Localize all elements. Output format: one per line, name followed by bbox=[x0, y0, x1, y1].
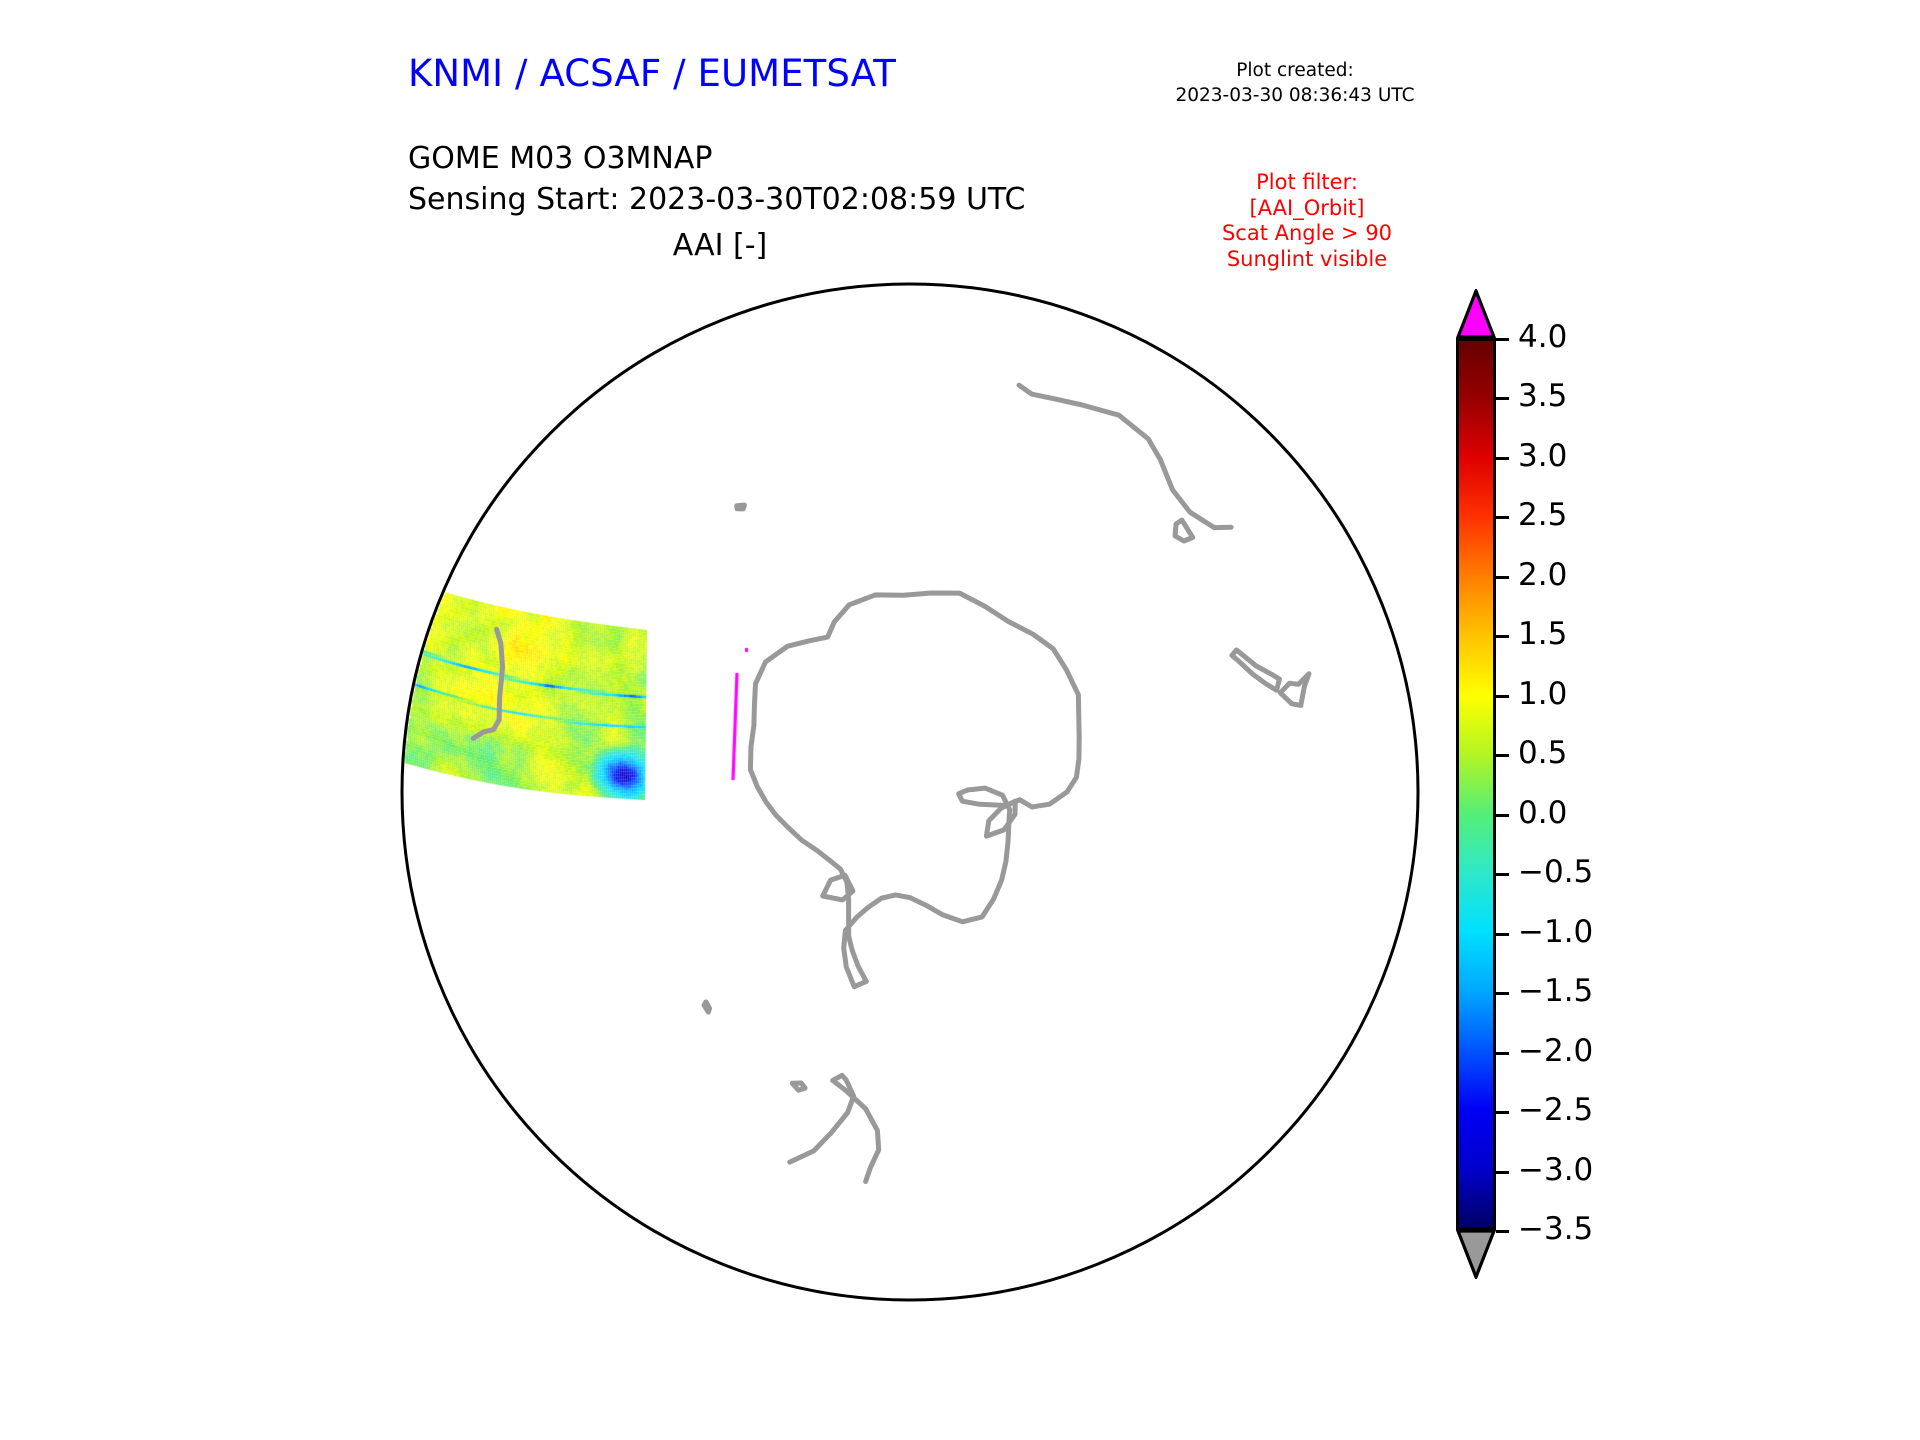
colorbar-tick bbox=[1496, 1111, 1509, 1114]
colorbar-tick-label: 2.0 bbox=[1518, 560, 1567, 591]
colorbar: 4.03.53.02.52.01.51.00.50.0−0.5−1.0−1.5−… bbox=[1448, 286, 1748, 1306]
colorbar-tick-label: 4.0 bbox=[1518, 322, 1567, 353]
colorbar-tick bbox=[1496, 814, 1509, 817]
coastline-path bbox=[473, 629, 502, 738]
plot-filter-note: Sunglint visible bbox=[1162, 247, 1452, 273]
coastline-path bbox=[792, 1083, 805, 1090]
colorbar-under-arrow-icon bbox=[1456, 1229, 1496, 1279]
coastline-path bbox=[750, 593, 1079, 987]
colorbar-tick-label: 1.5 bbox=[1518, 619, 1567, 650]
plot-created-block: Plot created: 2023-03-30 08:36:43 UTC bbox=[1150, 58, 1440, 108]
plot-filter-block: Plot filter: [AAI_Orbit] Scat Angle > 90… bbox=[1162, 170, 1452, 272]
colorbar-tick bbox=[1496, 992, 1509, 995]
colorbar-over-arrow-icon bbox=[1456, 289, 1496, 339]
plot-created-time: 2023-03-30 08:36:43 UTC bbox=[1150, 83, 1440, 108]
colorbar-tick-label: 3.0 bbox=[1518, 441, 1567, 472]
colorbar-tick bbox=[1496, 754, 1509, 757]
plot-filter-name: [AAI_Orbit] bbox=[1162, 196, 1452, 222]
colorbar-tick-label: 3.5 bbox=[1518, 381, 1567, 412]
colorbar-tick bbox=[1496, 1052, 1509, 1055]
colorbar-tick bbox=[1496, 1171, 1509, 1174]
colorbar-tick-label: −2.5 bbox=[1518, 1095, 1593, 1126]
globe-outline bbox=[402, 284, 1418, 1300]
coastline-path bbox=[1280, 674, 1309, 706]
colorbar-tick bbox=[1496, 695, 1509, 698]
plot-filter-condition: Scat Angle > 90 bbox=[1162, 221, 1452, 247]
product-info-block: GOME M03 O3MNAP Sensing Start: 2023-03-3… bbox=[408, 138, 1025, 220]
colorbar-tick-label: −0.5 bbox=[1518, 857, 1593, 888]
org-title: KNMI / ACSAF / EUMETSAT bbox=[408, 52, 896, 95]
coastline-path bbox=[737, 505, 745, 509]
colorbar-tick bbox=[1496, 873, 1509, 876]
colorbar-tick-label: 2.5 bbox=[1518, 500, 1567, 531]
colorbar-gradient bbox=[1459, 341, 1493, 1227]
colorbar-tick-label: −3.0 bbox=[1518, 1155, 1593, 1186]
product-name: GOME M03 O3MNAP bbox=[408, 138, 1025, 179]
colorbar-tick bbox=[1496, 516, 1509, 519]
colorbar-tick bbox=[1496, 1230, 1509, 1233]
coastline-path bbox=[1232, 650, 1280, 690]
colorbar-tick bbox=[1496, 576, 1509, 579]
sensing-start: Sensing Start: 2023-03-30T02:08:59 UTC bbox=[408, 179, 1025, 220]
coastline-group bbox=[473, 385, 1309, 1181]
colorbar-tick bbox=[1496, 933, 1509, 936]
coastline-path bbox=[1019, 385, 1231, 527]
colorbar-tick-label: 0.0 bbox=[1518, 798, 1567, 829]
plot-created-label: Plot created: bbox=[1150, 58, 1440, 83]
colorbar-body bbox=[1456, 338, 1496, 1230]
colorbar-tick-label: −2.0 bbox=[1518, 1036, 1593, 1067]
colorbar-tick-label: −3.5 bbox=[1518, 1214, 1593, 1245]
colorbar-tick bbox=[1496, 397, 1509, 400]
colorbar-tick-label: −1.0 bbox=[1518, 917, 1593, 948]
colorbar-tick-label: −1.5 bbox=[1518, 976, 1593, 1007]
map-overlay-svg bbox=[400, 282, 1420, 1302]
colorbar-tick bbox=[1496, 635, 1509, 638]
colorbar-tick bbox=[1496, 457, 1509, 460]
colorbar-tick-label: 1.0 bbox=[1518, 679, 1567, 710]
plot-filter-title: Plot filter: bbox=[1162, 170, 1452, 196]
coastline-path bbox=[704, 1002, 710, 1012]
colorbar-tick bbox=[1496, 338, 1509, 341]
colorbar-tick-label: 0.5 bbox=[1518, 738, 1567, 769]
map-plot-area bbox=[400, 282, 1420, 1302]
coastline-path bbox=[1175, 520, 1193, 541]
